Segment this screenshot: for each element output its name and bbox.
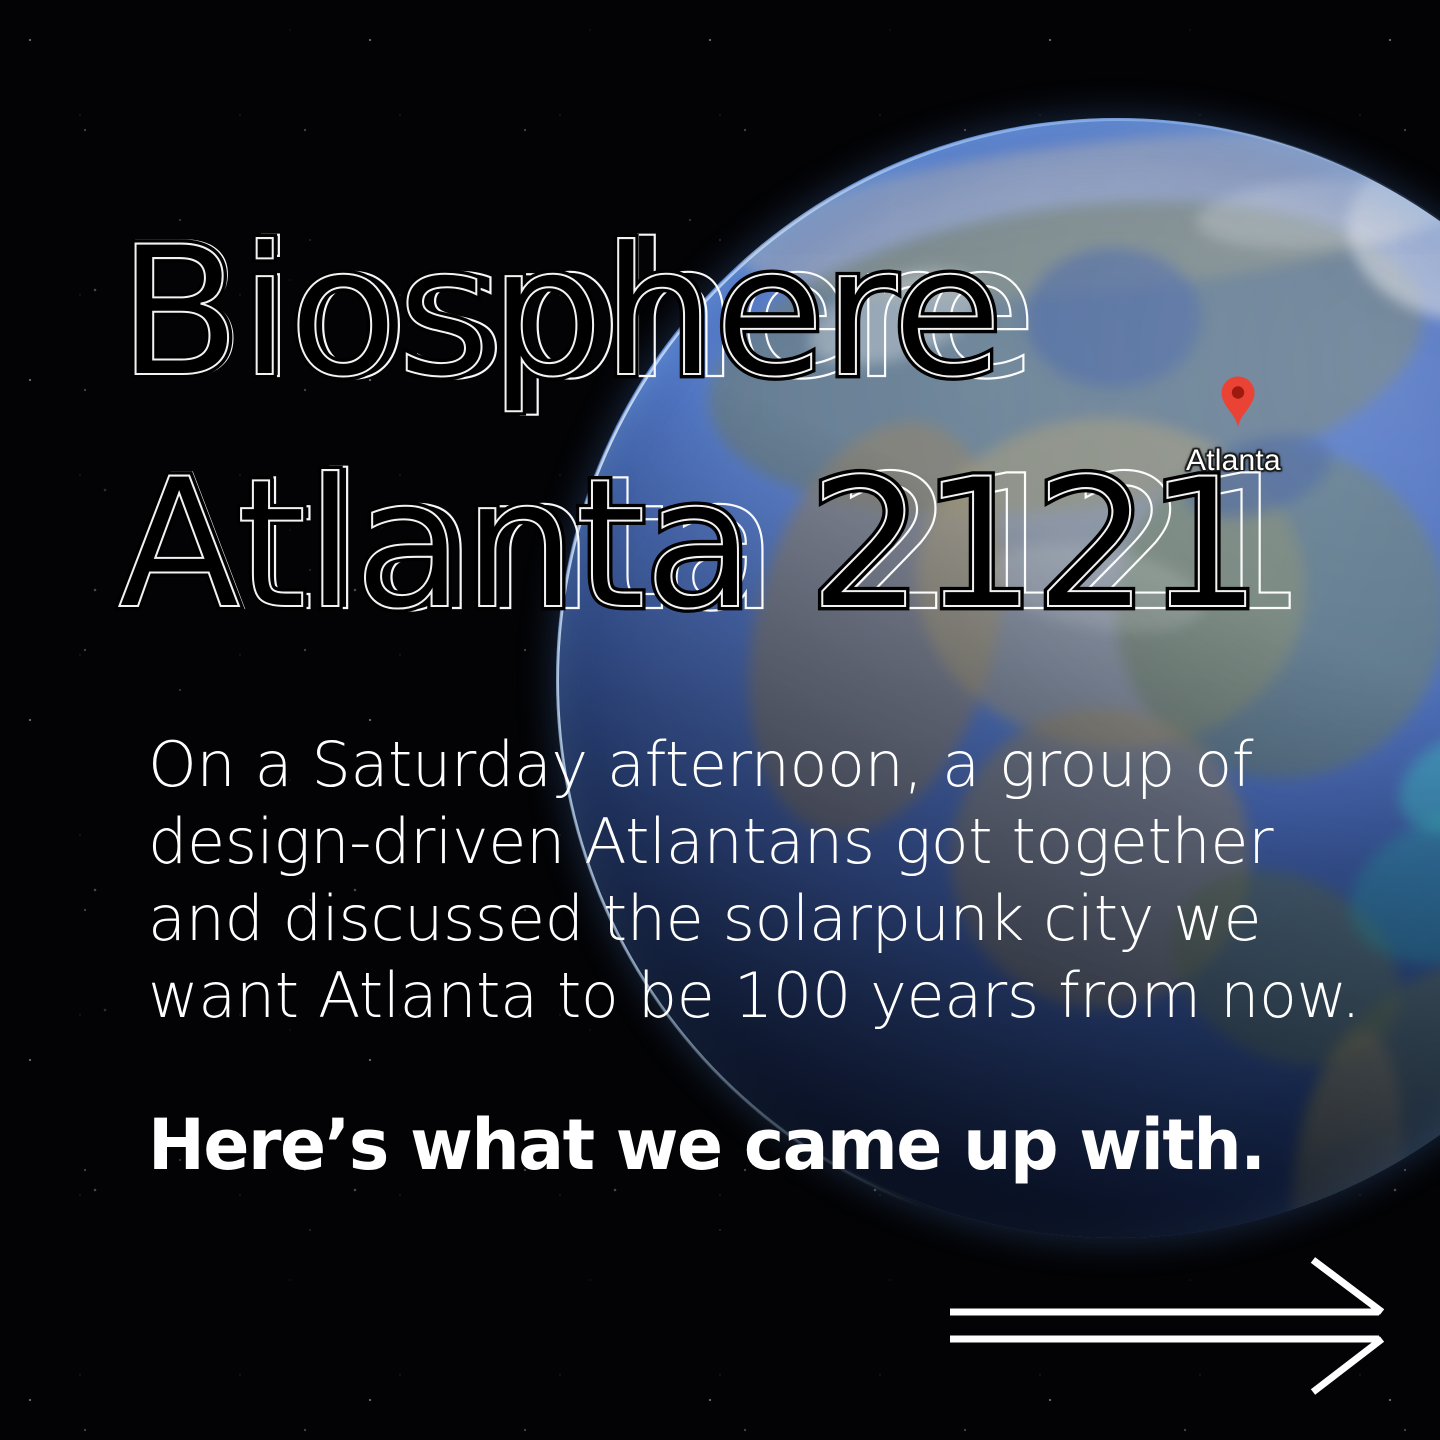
title-line-1-inner: Biosphere	[118, 201, 1001, 424]
body-paragraph: On a Saturday afternoon, a group of desi…	[148, 726, 1328, 1034]
title-line-2-inner: Atlanta 2121	[118, 433, 1261, 656]
arrow-right-icon[interactable]	[930, 1250, 1400, 1430]
tagline: Here’s what we came up with.	[148, 1102, 1265, 1188]
page-title: Biosphere Biosphere Biosphere Atlanta 21…	[118, 196, 1418, 660]
body-line-2: design-driven Atlantans got together	[148, 803, 1328, 880]
body-line-1: On a Saturday afternoon, a group of	[148, 726, 1328, 803]
slide-canvas: Atlanta Biosphere Biosphere Biosphere At…	[0, 0, 1440, 1440]
body-line-4: want Atlanta to be 100 years from now.	[148, 957, 1328, 1034]
body-line-3: and discussed the solarpunk city we	[148, 880, 1328, 957]
title-line-2: Atlanta 2121 Atlanta 2121 Atlanta 2121	[118, 428, 1418, 660]
title-line-1: Biosphere Biosphere Biosphere	[118, 196, 1418, 428]
